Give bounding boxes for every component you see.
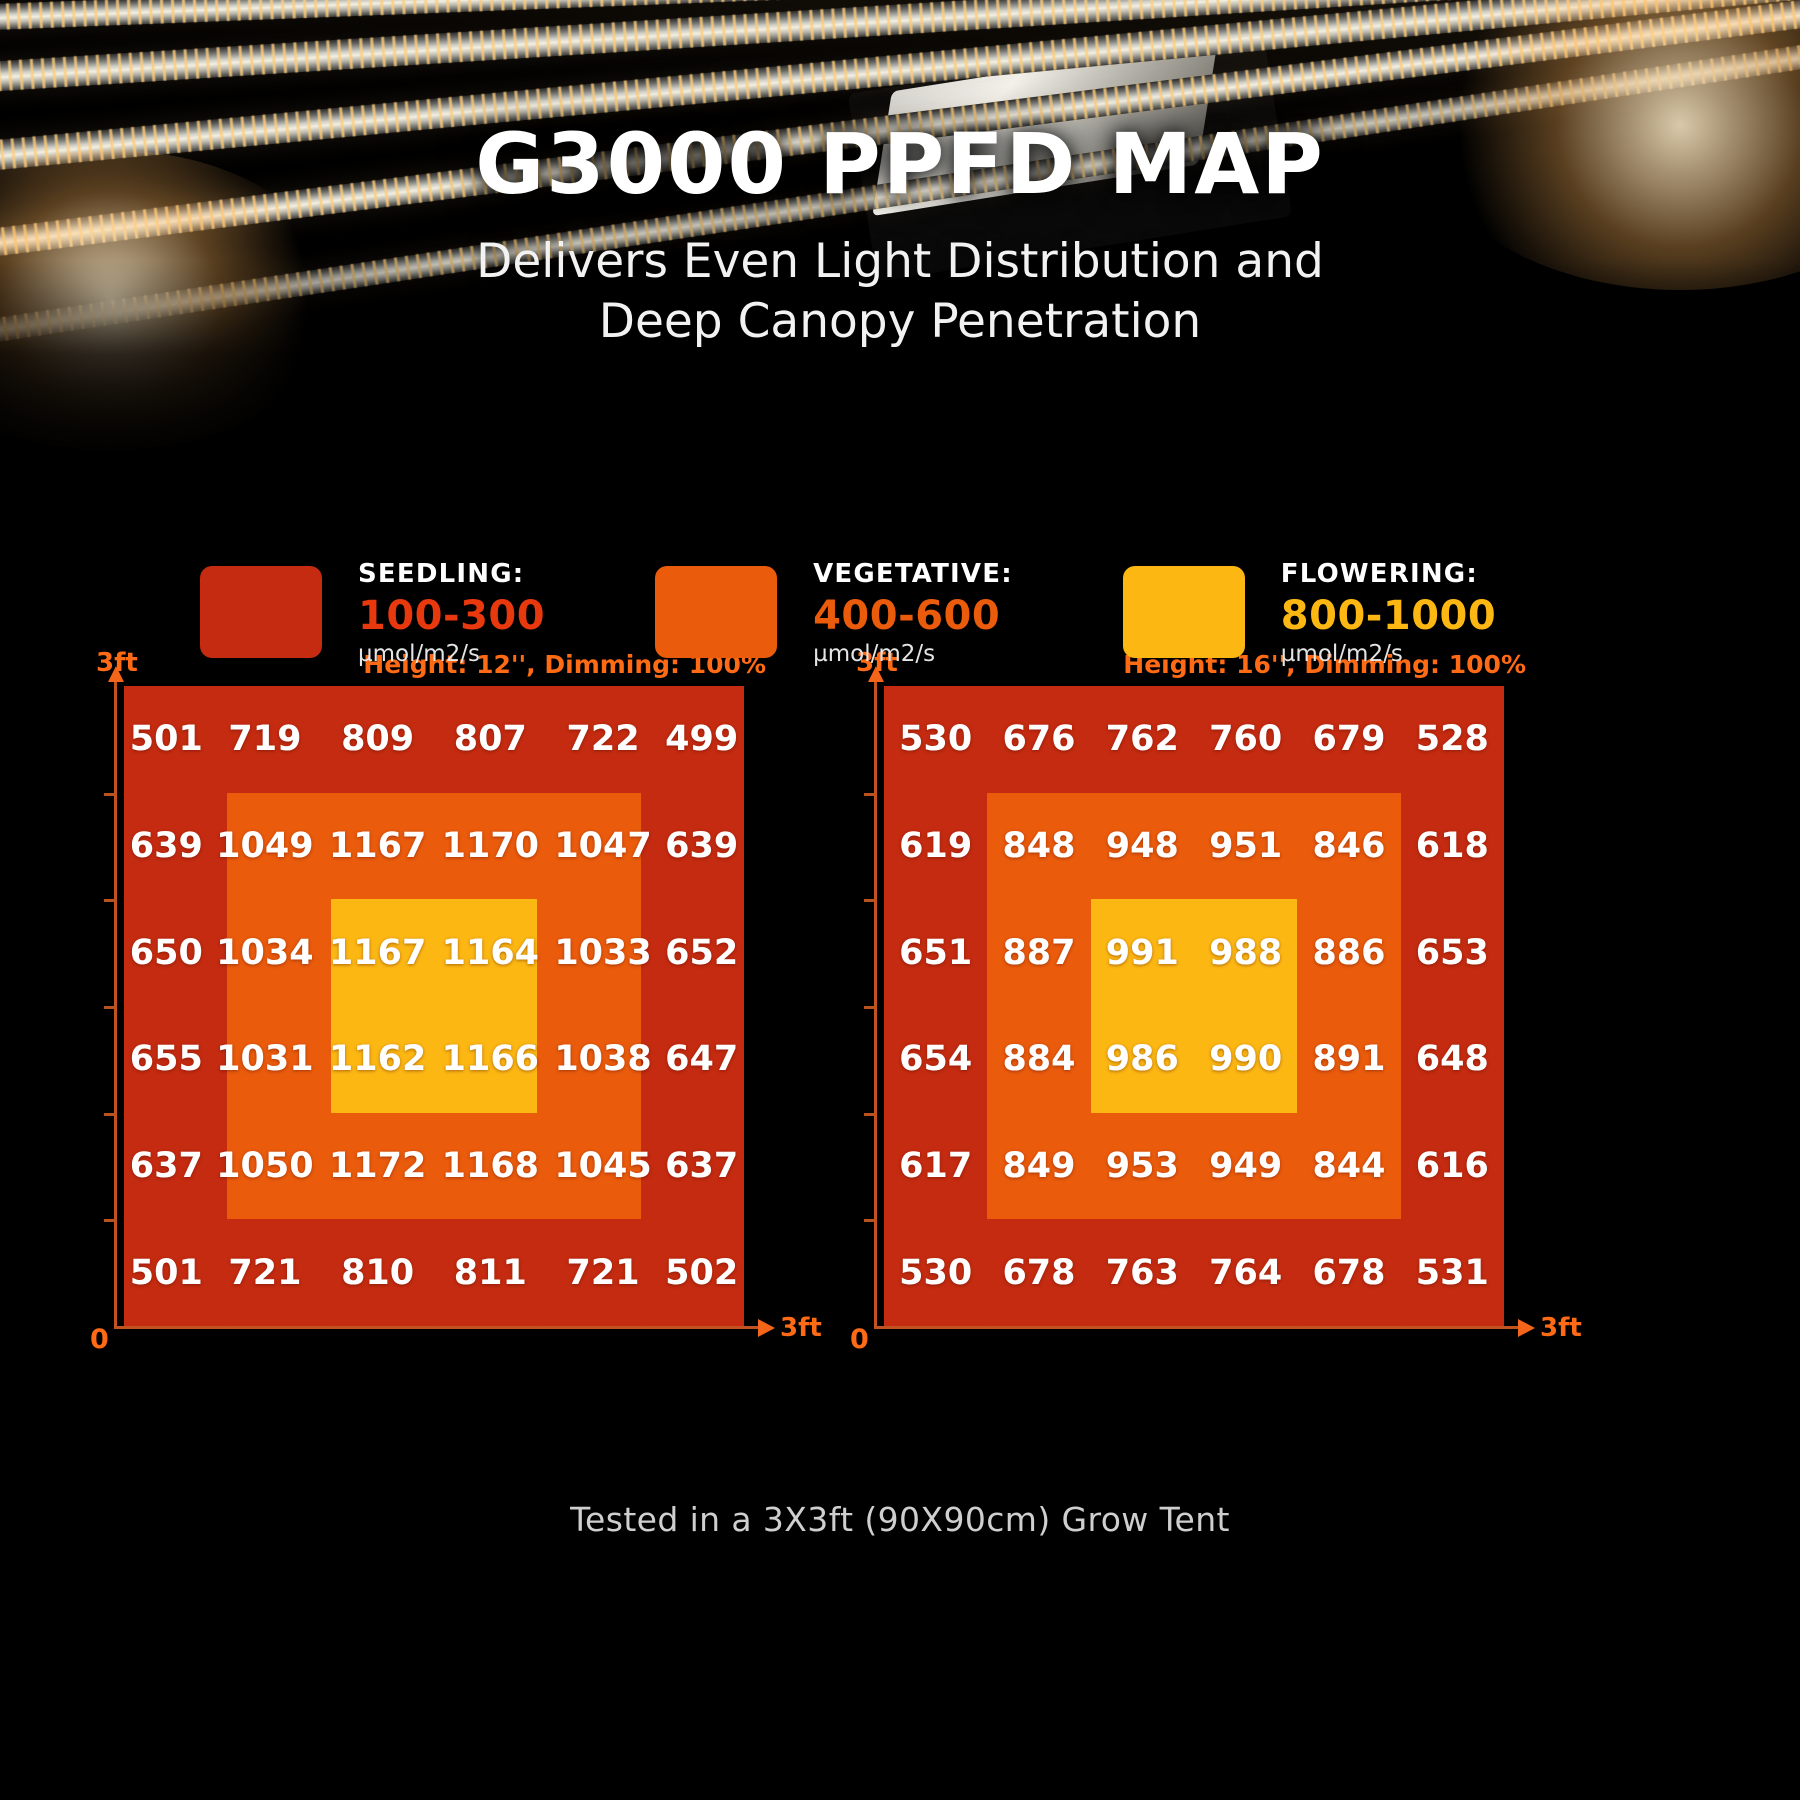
legend-stage-label: VEGETATIVE:	[813, 560, 1013, 589]
ppfd-value-cell: 846	[1297, 793, 1400, 900]
ppfd-value-cell: 953	[1091, 1113, 1194, 1220]
heatmap-grid-wrapper: 5306767627606795286198489489518466186518…	[884, 686, 1504, 1326]
ppfd-value-cell: 655	[124, 1006, 209, 1113]
y-axis-tick	[104, 1113, 115, 1116]
table-row: 530678763764678531	[884, 1219, 1504, 1326]
ppfd-value-cell: 991	[1091, 899, 1194, 1006]
ppfd-value-cell: 1166	[434, 1006, 547, 1113]
y-axis-tick	[864, 899, 875, 902]
ppfd-value-cell: 639	[659, 793, 744, 900]
ppfd-value-cell: 1038	[547, 1006, 660, 1113]
ppfd-value-cell: 679	[1297, 686, 1400, 793]
y-axis-tick	[864, 793, 875, 796]
ppfd-value-cell: 637	[124, 1113, 209, 1220]
ppfd-value-cell: 617	[884, 1113, 987, 1220]
title-block: G3000 PPFD MAP Delivers Even Light Distr…	[0, 120, 1800, 353]
legend-range-value: 400-600	[813, 593, 1013, 639]
y-axis-tick	[104, 1006, 115, 1009]
legend-unit-label: µmol/m2/s	[1281, 641, 1496, 667]
ppfd-value-cell: 807	[434, 686, 547, 793]
x-axis-max-label: 3ft	[1540, 1313, 1582, 1343]
subtitle-line-1: Delivers Even Light Distribution and	[0, 232, 1800, 292]
legend-text-block: VEGETATIVE:400-600µmol/m2/s	[813, 560, 1013, 667]
ppfd-value-cell: 1049	[209, 793, 322, 900]
ppfd-value-cell: 531	[1401, 1219, 1504, 1326]
table-row: 617849953949844616	[884, 1113, 1504, 1220]
ppfd-value-cell: 721	[547, 1219, 660, 1326]
legend-range-value: 100-300	[358, 593, 545, 639]
legend-text-block: FLOWERING:800-1000µmol/m2/s	[1281, 560, 1496, 667]
ppfd-value-cell: 650	[124, 899, 209, 1006]
legend-color-swatch	[200, 566, 322, 658]
ppfd-value-cell: 530	[884, 686, 987, 793]
ppfd-value-cell: 762	[1091, 686, 1194, 793]
ppfd-value-table: 5306767627606795286198489489518466186518…	[884, 686, 1504, 1326]
ppfd-value-cell: 619	[884, 793, 987, 900]
ppfd-value-cell: 1170	[434, 793, 547, 900]
table-row: 6501034116711641033652	[124, 899, 744, 1006]
ppfd-value-cell: 951	[1194, 793, 1297, 900]
x-axis-line	[114, 1326, 762, 1329]
ppfd-value-cell: 647	[659, 1006, 744, 1113]
subtitle-line-2: Deep Canopy Penetration	[0, 292, 1800, 352]
ppfd-value-cell: 1167	[321, 899, 434, 1006]
table-row: 501721810811721502	[124, 1219, 744, 1326]
legend-color-swatch	[1123, 566, 1245, 658]
y-axis-tick	[864, 1006, 875, 1009]
ppfd-legend: SEEDLING:100-300µmol/m2/sVEGETATIVE:400-…	[200, 560, 1650, 690]
ppfd-value-cell: 990	[1194, 1006, 1297, 1113]
legend-unit-label: µmol/m2/s	[813, 641, 1013, 667]
heatmap-grid: 5017198098077224996391049116711701047639…	[124, 686, 744, 1326]
ppfd-value-cell: 721	[209, 1219, 322, 1326]
ppfd-value-cell: 1047	[547, 793, 660, 900]
table-row: 501719809807722499	[124, 686, 744, 793]
axis-origin-label: 0	[850, 1324, 869, 1355]
x-axis-arrow-icon	[1518, 1319, 1535, 1337]
ppfd-value-cell: 501	[124, 1219, 209, 1326]
y-axis-tick	[104, 793, 115, 796]
y-axis-tick	[864, 1113, 875, 1116]
ppfd-value-cell: 886	[1297, 899, 1400, 1006]
ppfd-value-cell: 616	[1401, 1113, 1504, 1220]
y-axis-tick	[104, 1219, 115, 1222]
ppfd-value-cell: 528	[1401, 686, 1504, 793]
legend-stage-label: SEEDLING:	[358, 560, 545, 589]
table-row: 654884986990891648	[884, 1006, 1504, 1113]
ppfd-value-cell: 891	[1297, 1006, 1400, 1113]
ppfd-value-table: 5017198098077224996391049116711701047639…	[124, 686, 744, 1326]
ppfd-value-cell: 1031	[209, 1006, 322, 1113]
legend-stage-label: FLOWERING:	[1281, 560, 1496, 589]
page-subtitle: Delivers Even Light Distribution and Dee…	[0, 232, 1800, 352]
axis-origin-label: 0	[90, 1324, 109, 1355]
ppfd-value-cell: 651	[884, 899, 987, 1006]
ppfd-value-cell: 637	[659, 1113, 744, 1220]
ppfd-value-cell: 949	[1194, 1113, 1297, 1220]
legend-item-flowering: FLOWERING:800-1000µmol/m2/s	[1123, 560, 1496, 667]
x-axis-max-label: 3ft	[780, 1313, 822, 1343]
legend-color-swatch	[655, 566, 777, 658]
table-row: 6391049116711701047639	[124, 793, 744, 900]
ppfd-value-cell: 654	[884, 1006, 987, 1113]
table-row: 6371050117211681045637	[124, 1113, 744, 1220]
table-row: 530676762760679528	[884, 686, 1504, 793]
page-title: G3000 PPFD MAP	[0, 120, 1800, 208]
legend-unit-label: µmol/m2/s	[358, 641, 545, 667]
ppfd-value-cell: 988	[1194, 899, 1297, 1006]
table-row: 6551031116211661038647	[124, 1006, 744, 1113]
ppfd-value-cell: 618	[1401, 793, 1504, 900]
ppfd-value-cell: 848	[987, 793, 1090, 900]
ppfd-value-cell: 501	[124, 686, 209, 793]
ppfd-value-cell: 1050	[209, 1113, 322, 1220]
ppfd-value-cell: 530	[884, 1219, 987, 1326]
ppfd-value-cell: 887	[987, 899, 1090, 1006]
ppfd-value-cell: 810	[321, 1219, 434, 1326]
ppfd-value-cell: 1164	[434, 899, 547, 1006]
ppfd-value-cell: 639	[124, 793, 209, 900]
ppfd-value-cell: 849	[987, 1113, 1090, 1220]
ppfd-value-cell: 719	[209, 686, 322, 793]
legend-range-value: 800-1000	[1281, 593, 1496, 639]
y-axis-line	[114, 678, 117, 1328]
ppfd-value-cell: 811	[434, 1219, 547, 1326]
ppfd-value-cell: 678	[1297, 1219, 1400, 1326]
heatmap-grid: 5306767627606795286198489489518466186518…	[884, 686, 1504, 1326]
footer-note: Tested in a 3X3ft (90X90cm) Grow Tent	[0, 1500, 1800, 1539]
x-axis-arrow-icon	[758, 1319, 775, 1337]
ppfd-value-cell: 722	[547, 686, 660, 793]
y-axis-arrow-icon	[108, 666, 124, 682]
ppfd-value-cell: 652	[659, 899, 744, 1006]
ppfd-value-cell: 499	[659, 686, 744, 793]
y-axis-line	[874, 678, 877, 1328]
ppfd-value-cell: 986	[1091, 1006, 1194, 1113]
y-axis-tick	[864, 1219, 875, 1222]
ppfd-value-cell: 1045	[547, 1113, 660, 1220]
ppfd-value-cell: 502	[659, 1219, 744, 1326]
x-axis-line	[874, 1326, 1522, 1329]
ppfd-value-cell: 760	[1194, 686, 1297, 793]
legend-item-vegetative: VEGETATIVE:400-600µmol/m2/s	[655, 560, 1013, 667]
ppfd-value-cell: 1162	[321, 1006, 434, 1113]
ppfd-value-cell: 1168	[434, 1113, 547, 1220]
ppfd-value-cell: 764	[1194, 1219, 1297, 1326]
ppfd-value-cell: 653	[1401, 899, 1504, 1006]
ppfd-value-cell: 948	[1091, 793, 1194, 900]
ppfd-value-cell: 1033	[547, 899, 660, 1006]
table-row: 619848948951846618	[884, 793, 1504, 900]
heatmap-grid-wrapper: 5017198098077224996391049116711701047639…	[124, 686, 744, 1326]
y-axis-tick	[104, 899, 115, 902]
ppfd-value-cell: 844	[1297, 1113, 1400, 1220]
ppfd-value-cell: 678	[987, 1219, 1090, 1326]
ppfd-value-cell: 763	[1091, 1219, 1194, 1326]
ppfd-value-cell: 809	[321, 686, 434, 793]
legend-item-seedling: SEEDLING:100-300µmol/m2/s	[200, 560, 545, 667]
ppfd-value-cell: 676	[987, 686, 1090, 793]
table-row: 651887991988886653	[884, 899, 1504, 1006]
ppfd-value-cell: 884	[987, 1006, 1090, 1113]
ppfd-value-cell: 1034	[209, 899, 322, 1006]
ppfd-value-cell: 648	[1401, 1006, 1504, 1113]
legend-text-block: SEEDLING:100-300µmol/m2/s	[358, 560, 545, 667]
ppfd-value-cell: 1167	[321, 793, 434, 900]
ppfd-value-cell: 1172	[321, 1113, 434, 1220]
